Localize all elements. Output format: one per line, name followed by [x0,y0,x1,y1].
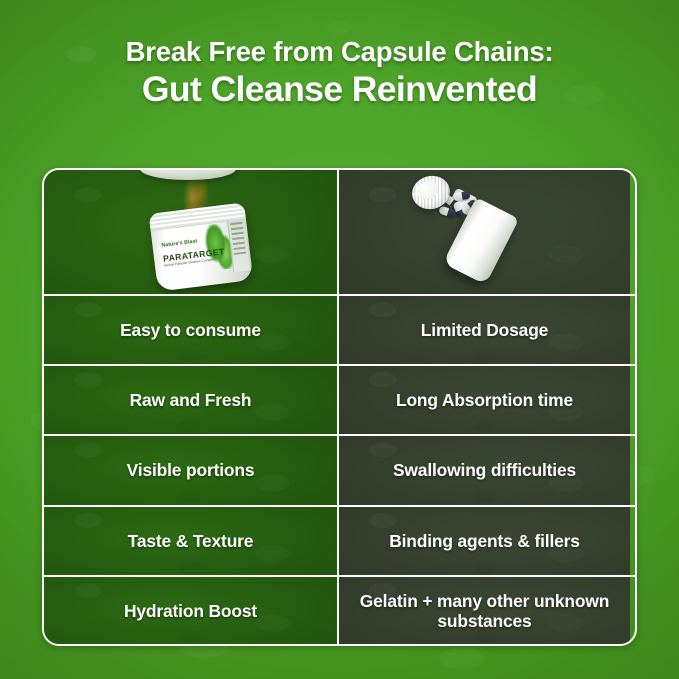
comparison-table: Nature's Blast PARATARGET Herbal Parasit… [42,168,637,646]
pill-bottle-icon [339,170,630,294]
page-title: Break Free from Capsule Chains: Gut Clea… [0,36,679,110]
cell-capsule-product-image [337,170,630,294]
table-row-media: Nature's Blast PARATARGET Herbal Parasit… [44,170,635,294]
cell-benefit: Hydration Boost [44,577,337,645]
jar-lid-icon [140,170,236,180]
cell-drawback: Gelatin + many other unknown substances [337,577,630,645]
table-row: Easy to consume Limited Dosage [44,294,635,364]
jar-body: Nature's Blast PARATARGET Herbal Parasit… [149,202,254,291]
drawback-label: Limited Dosage [421,320,548,340]
jar-brand-label: Nature's Blast [161,238,198,248]
table-row: Hydration Boost Gelatin + many other unk… [44,575,635,645]
supplement-jar-icon: Nature's Blast PARATARGET Herbal Parasit… [44,170,337,294]
cell-drawback: Swallowing difficulties [337,436,630,504]
benefit-label: Raw and Fresh [130,390,252,410]
benefit-label: Taste & Texture [128,531,254,551]
headline-line-2: Gut Cleanse Reinvented [0,69,679,109]
table-row: Visible portions Swallowing difficulties [44,434,635,504]
cell-powder-product-image: Nature's Blast PARATARGET Herbal Parasit… [44,170,337,294]
table-row: Raw and Fresh Long Absorption time [44,364,635,434]
drawback-label: Swallowing difficulties [393,460,576,480]
headline-line-1: Break Free from Capsule Chains: [0,36,679,67]
drawback-label: Long Absorption time [396,390,573,410]
cell-benefit: Taste & Texture [44,507,337,575]
benefit-label: Visible portions [127,460,255,480]
cell-benefit: Raw and Fresh [44,366,337,434]
cell-benefit: Visible portions [44,436,337,504]
benefit-label: Hydration Boost [124,601,257,621]
cell-benefit: Easy to consume [44,296,337,364]
cell-drawback: Long Absorption time [337,366,630,434]
drawback-label: Binding agents & fillers [389,531,580,551]
cell-drawback: Limited Dosage [337,296,630,364]
table-row: Taste & Texture Binding agents & fillers [44,505,635,575]
drawback-label: Gelatin + many other unknown substances [349,591,620,631]
benefit-label: Easy to consume [120,320,261,340]
cell-drawback: Binding agents & fillers [337,507,630,575]
